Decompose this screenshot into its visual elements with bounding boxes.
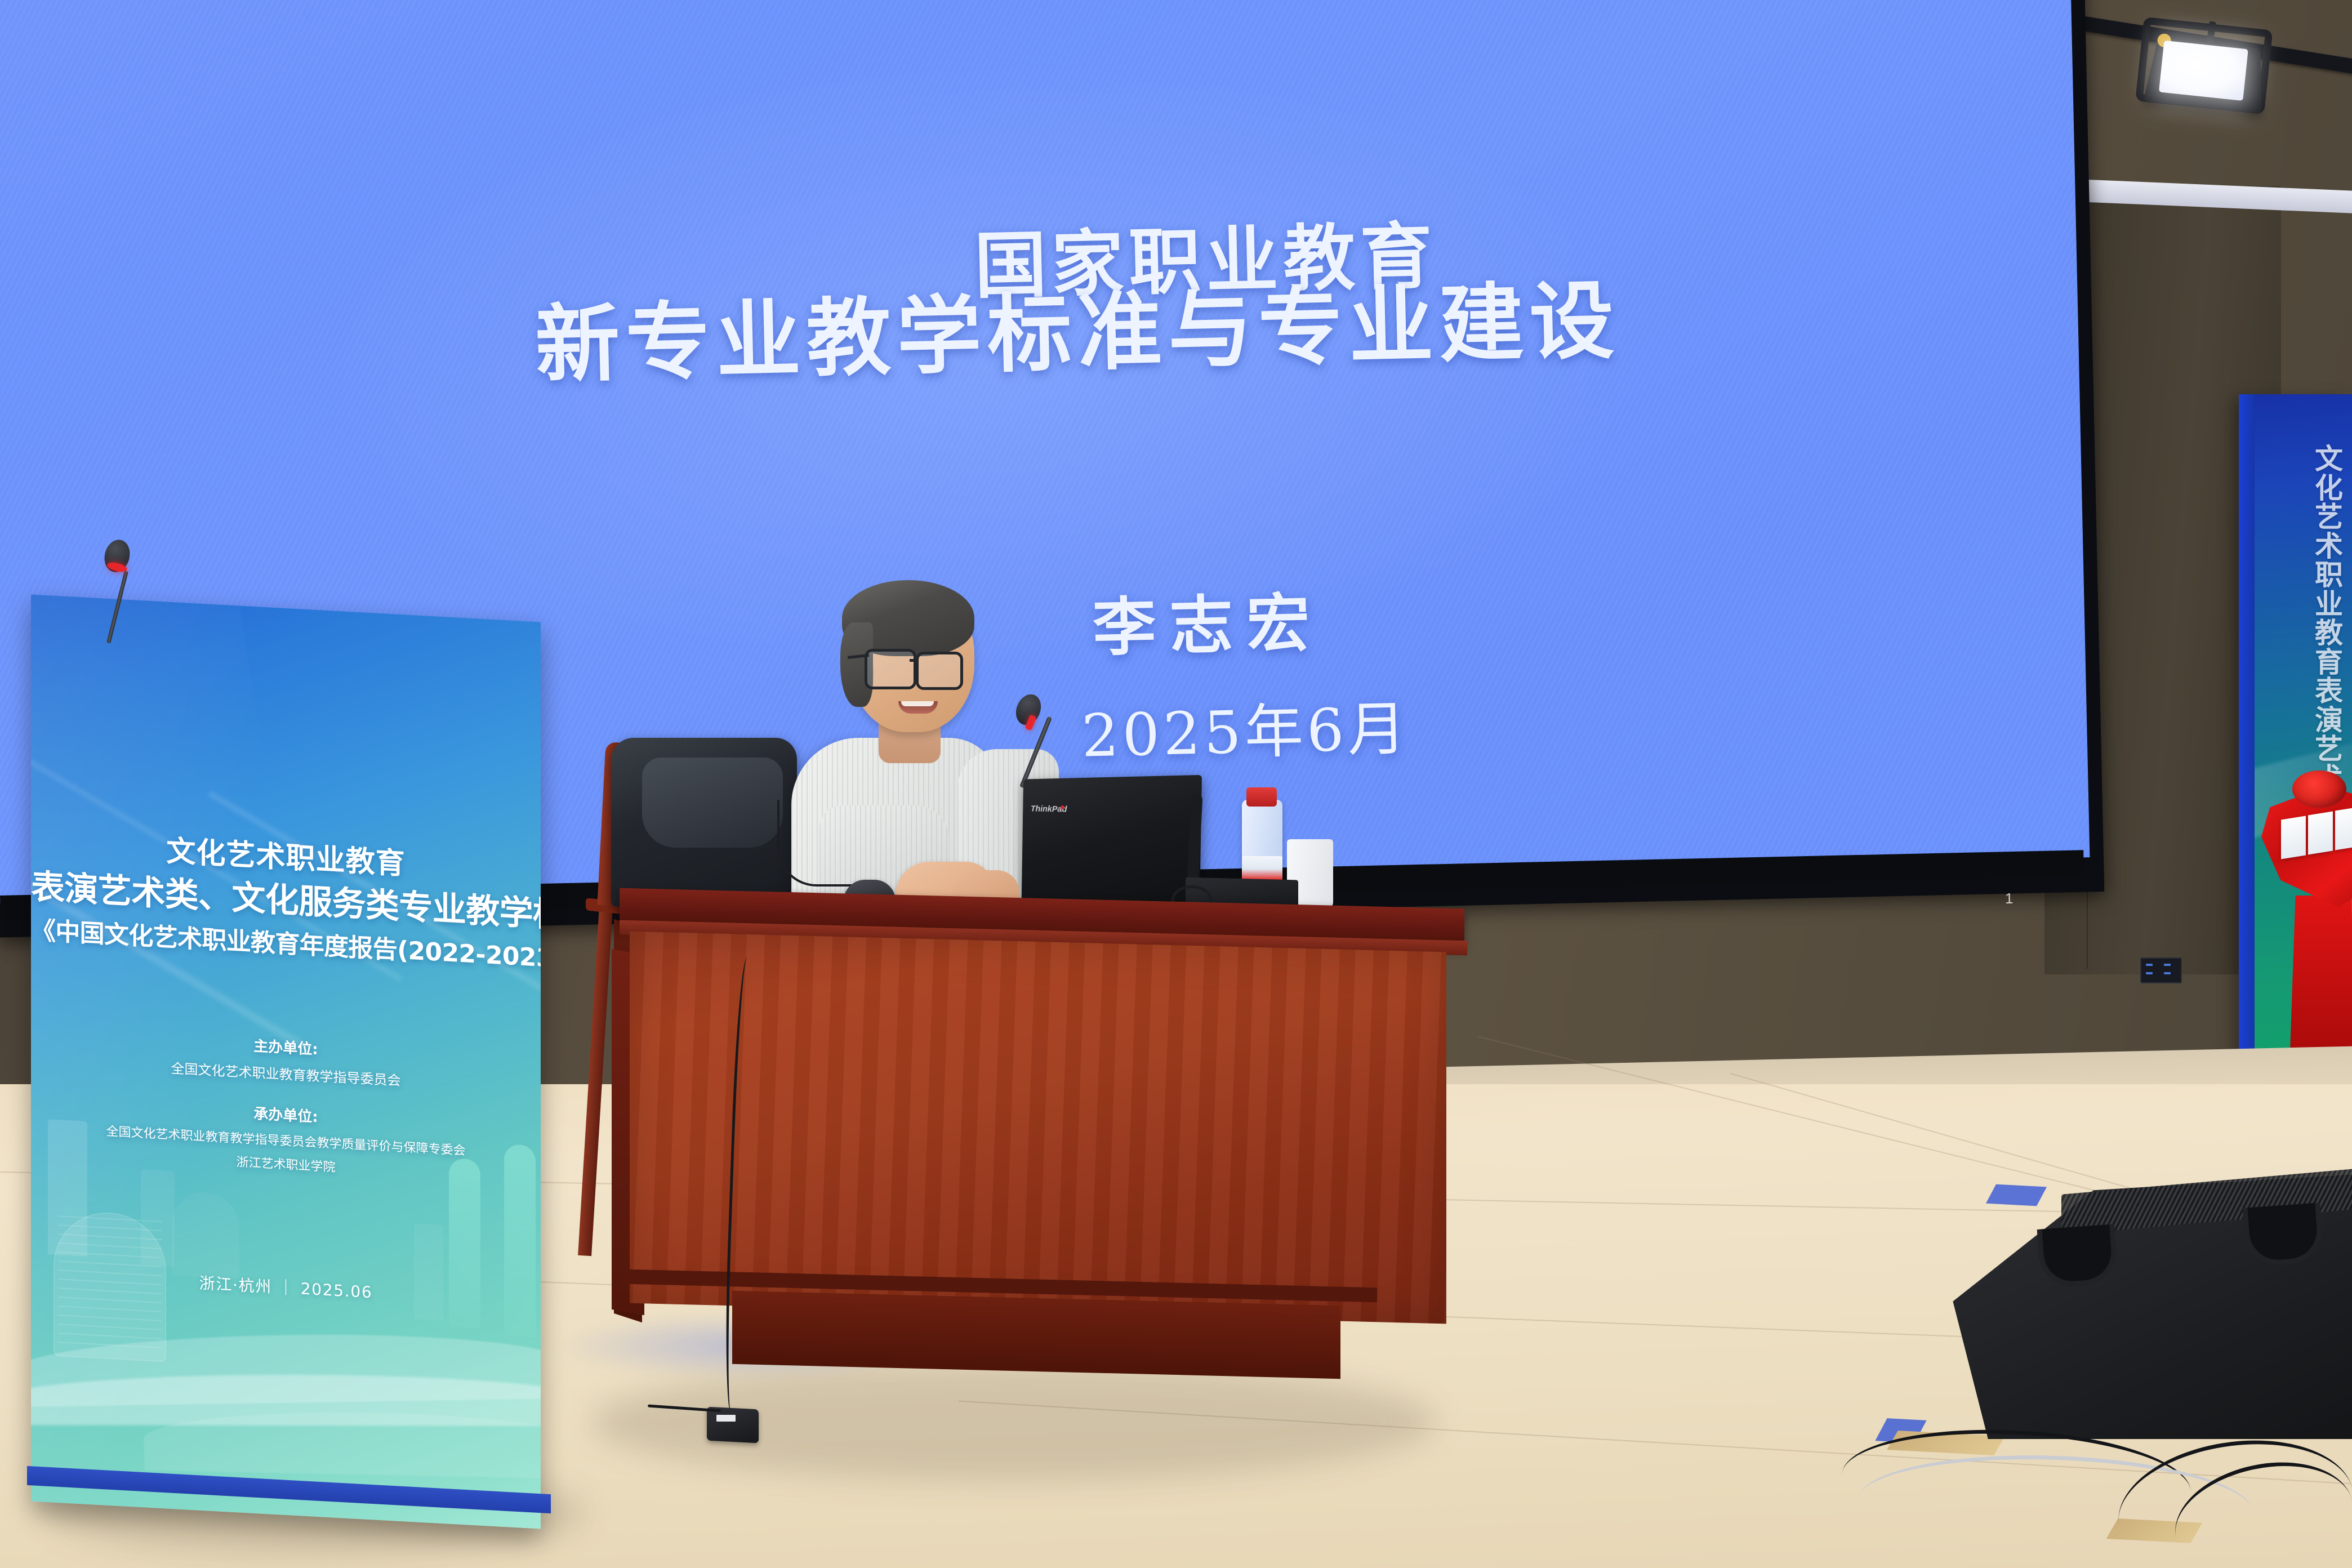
wall-control-panel[interactable] [2140,957,2182,983]
side-banner-edge [2239,394,2255,1064]
person-teeth [901,701,934,706]
skyline-pagoda [172,1191,239,1279]
display-table-skirt [2287,896,2352,1064]
eyeglasses-bridge [910,659,919,662]
scene-root: 国家职业教育 新专业教学标准与专业建设 李志宏 2025年6月 1 文化艺术职业… [0,0,2352,1568]
floor-marker-tape [1986,1184,2047,1206]
desk-kick-panel [732,1291,1340,1379]
slide-page-number: 1 [2005,890,2014,907]
stage-light-fixture [2142,30,2271,127]
slide-presenter-name: 李志宏 [1092,572,1324,668]
skyline-building [141,1169,175,1267]
chair-backrest-pad [642,758,783,848]
power-adapter [707,1407,759,1444]
red-ribbon-bow [2292,770,2346,808]
bottle-cap[interactable] [1246,787,1277,807]
report-book [2335,807,2352,850]
power-adapter-label [716,1415,736,1422]
report-book [2281,816,2306,859]
eyeglasses-lens [916,652,963,690]
podium-panel: 文化艺术职业教育 表演艺术类、文化服务类专业教学标准宣贯培训 《中国文化艺术职业… [31,594,541,1529]
side-banner-text: 文化艺术职业教育表演艺术类 [2315,445,2352,822]
eyeglasses-lens [865,649,916,689]
slide-title-line2: 新专业教学标准与专业建设 [534,252,1621,399]
slide-date: 2025年6月 [1080,680,1410,773]
mouse-cable [777,800,853,887]
skyline-building [48,1119,87,1257]
report-book [2308,812,2333,855]
laptop-logo-dot [1061,805,1064,809]
